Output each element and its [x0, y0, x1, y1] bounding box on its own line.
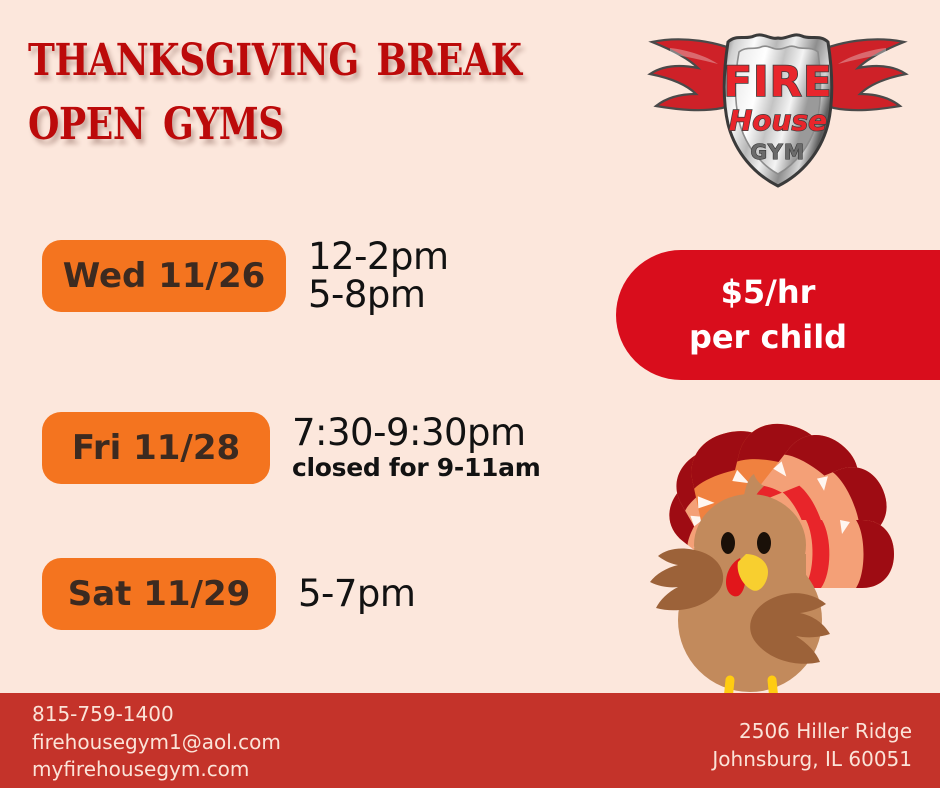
time-secondary: 5-8pm	[308, 276, 449, 314]
price-badge: $5/hr per child	[616, 250, 940, 380]
turkey-eye-right	[757, 532, 771, 554]
session-times: 12-2pm 5-8pm	[308, 238, 449, 315]
footer-address: 2506 Hiller Ridge Johnsburg, IL 60051	[712, 718, 912, 773]
website-url: myfirehousegym.com	[32, 756, 281, 784]
footer-bar: 815-759-1400 firehousegym1@aol.com myfir…	[0, 693, 940, 788]
logo-text-gym: GYM	[751, 140, 806, 164]
schedule-row: Sat 11/29 5-7pm	[42, 558, 415, 630]
address-street: 2506 Hiller Ridge	[712, 718, 912, 746]
logo-text-fire: FIRE	[723, 57, 832, 106]
turkey-graphic	[628, 404, 940, 714]
title-line-1: Thanksgiving Break	[28, 22, 520, 84]
turkey-eye-left	[721, 532, 735, 554]
email-address: firehousegym1@aol.com	[32, 729, 281, 757]
day-badge: Wed 11/26	[42, 240, 286, 312]
time-primary: 12-2pm	[308, 238, 449, 276]
thanksgiving-open-gym-flyer: Thanksgiving Break Open Gyms	[0, 0, 940, 788]
price-rate: $5/hr	[721, 270, 816, 315]
day-badge: Fri 11/28	[42, 412, 270, 484]
schedule-row: Fri 11/28 7:30-9:30pm closed for 9-11am	[42, 412, 540, 484]
session-times: 5-7pm	[298, 575, 415, 613]
page-title: Thanksgiving Break Open Gyms	[28, 22, 628, 149]
price-unit: per child	[689, 315, 847, 360]
time-primary: 5-7pm	[298, 575, 415, 613]
footer-contact-info: 815-759-1400 firehousegym1@aol.com myfir…	[32, 701, 281, 784]
session-times: 7:30-9:30pm closed for 9-11am	[292, 414, 540, 481]
logo-text-house: House	[729, 104, 827, 137]
day-badge: Sat 11/29	[42, 558, 276, 630]
schedule-row: Wed 11/26 12-2pm 5-8pm	[42, 238, 449, 315]
turkey-illustration	[628, 404, 940, 714]
phone-number: 815-759-1400	[32, 701, 281, 729]
title-line-2: Open Gyms	[28, 86, 520, 148]
logo-graphic: FIRE House GYM	[636, 16, 920, 192]
time-primary: 7:30-9:30pm	[292, 414, 540, 452]
time-note: closed for 9-11am	[292, 454, 540, 482]
address-city-state-zip: Johnsburg, IL 60051	[712, 746, 912, 774]
firehouse-gym-logo: FIRE House GYM	[636, 16, 920, 192]
